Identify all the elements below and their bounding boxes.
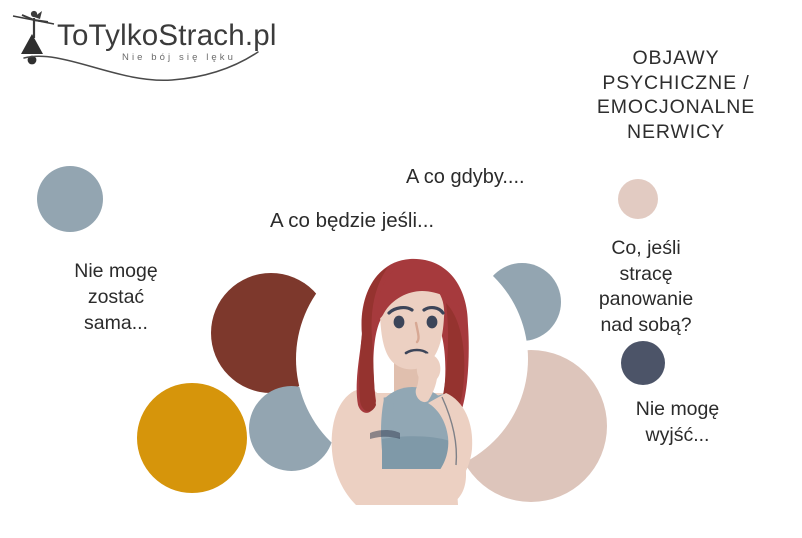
page-title-line-1: OBJAWY: [560, 46, 792, 71]
worry-panowanie-line-1: Co, jeśli: [556, 236, 736, 262]
site-logo[interactable]: ToTylkoStrach.pl Nie bój się lęku: [10, 8, 275, 80]
circle-blush-top-right: [618, 179, 658, 219]
worry-panowanie-line-3: panowanie: [556, 287, 736, 313]
eye-left: [394, 316, 405, 329]
worry-sama-line-3: sama...: [36, 310, 196, 336]
worry-text-gdyby: A co gdyby....: [406, 166, 525, 189]
circle-amber: [137, 383, 247, 493]
worry-wyjsc-line-2: wyjść...: [600, 422, 755, 448]
page-title-line-2: PSYCHICZNE /: [560, 71, 792, 96]
worry-panowanie-line-2: stracę: [556, 262, 736, 288]
infographic-canvas: ToTylkoStrach.pl Nie bój się lęku OBJAWY…: [0, 0, 802, 538]
logo-swoosh-icon: [22, 50, 262, 84]
worried-woman-illustration: [296, 243, 528, 505]
page-title-line-3: EMOCJONALNE: [560, 95, 792, 120]
worry-text-bedzie: A co będzie jeśli...: [270, 209, 434, 233]
circle-slate-top-left: [37, 166, 103, 232]
circle-navy-small: [621, 341, 665, 385]
worry-panowanie-line-4: nad sobą?: [556, 313, 736, 339]
logo-wordmark: ToTylkoStrach.pl: [57, 19, 277, 53]
eye-right: [427, 316, 438, 329]
worry-gdyby-line-1: A co gdyby....: [406, 166, 525, 189]
worry-sama-line-2: zostać: [36, 284, 196, 310]
worry-text-wyjsc: Nie mogę wyjść...: [600, 396, 755, 448]
worry-text-sama: Nie mogę zostać sama...: [36, 258, 196, 336]
worry-bedzie-line-1: A co będzie jeśli...: [270, 209, 434, 233]
page-title-line-4: NERWICY: [560, 120, 792, 145]
worry-sama-line-1: Nie mogę: [36, 258, 196, 284]
page-title: OBJAWY PSYCHICZNE / EMOCJONALNE NERWICY: [560, 46, 792, 144]
worry-text-panowanie: Co, jeśli stracę panowanie nad sobą?: [556, 236, 736, 338]
worry-wyjsc-line-1: Nie mogę: [600, 396, 755, 422]
